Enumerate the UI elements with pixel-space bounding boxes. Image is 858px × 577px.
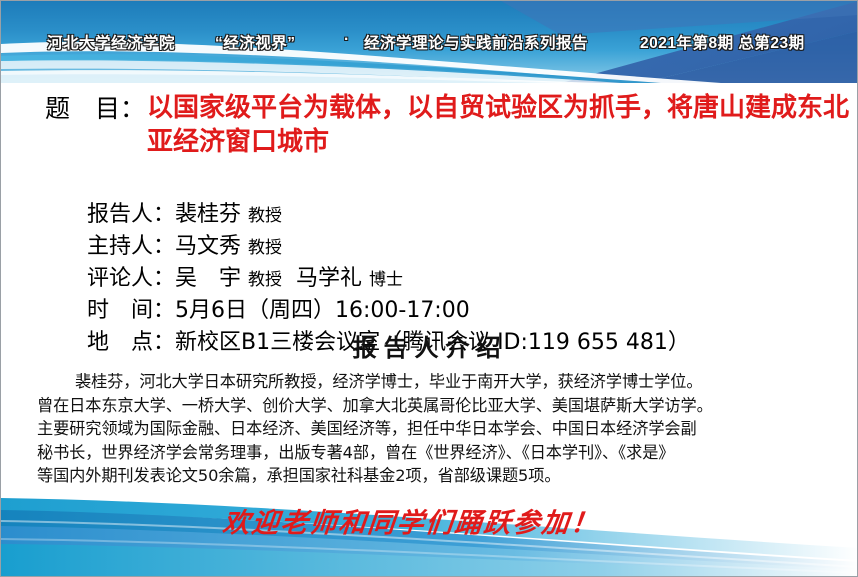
bio-paragraph: 裴桂芬，河北大学日本研究所教授，经济学博士，毕业于南开大学，获经济学博士学位。 [37,370,827,394]
poster-root: 河北大学经济学院 “经济视界” · 经济学理论与实践前沿系列报告 2021年第8… [0,0,858,577]
title-block: 题 目： 以国家级平台为载体，以自贸试验区为抓手，将唐山建成东北亚经济窗口城市 [45,91,858,160]
banner-issue-number: 2021年第8期 总第23期 [640,31,805,53]
bio-paragraph: 等国内外期刊发表论文50余篇，承担国家社科基金2项，省部级课题5项。 [37,464,827,488]
bio-paragraph: 秘书长，世界经济学会常务理事，出版专著4部，曾在《世界经济》、《日本学刊》、《求… [37,441,827,465]
title-label: 题 目： [45,91,145,125]
page-title: 以国家级平台为载体，以自贸试验区为抓手，将唐山建成东北亚经济窗口城市 [147,91,858,160]
banner-text-group: 河北大学经济学院 “经济视界” · 经济学理论与实践前沿系列报告 2021年第8… [1,1,858,83]
banner-subtitle: 经济学理论与实践前沿系列报告 [364,31,588,53]
banner-series-name: “经济视界” [215,31,296,53]
banner-separator: · [344,31,350,49]
bio-body: 裴桂芬，河北大学日本研究所教授，经济学博士，毕业于南开大学，获经济学博士学位。 … [37,370,827,488]
bio-paragraph: 曾在日本东京大学、一桥大学、创价大学、加拿大北英属哥伦比亚大学、美国堪萨斯大学访… [37,394,827,418]
header-banner: 河北大学经济学院 “经济视界” · 经济学理论与实践前沿系列报告 2021年第8… [1,1,858,83]
bio-section-heading: 报告人介绍 [1,328,858,363]
welcome-message: 欢迎老师和同学们踊跃参加！ [221,501,602,540]
bio-paragraph: 主要研究领域为国际金融、日本经济、美国经济等，担任中华日本学会、中国日本经济学会… [37,417,827,441]
banner-organization: 河北大学经济学院 [47,31,175,53]
